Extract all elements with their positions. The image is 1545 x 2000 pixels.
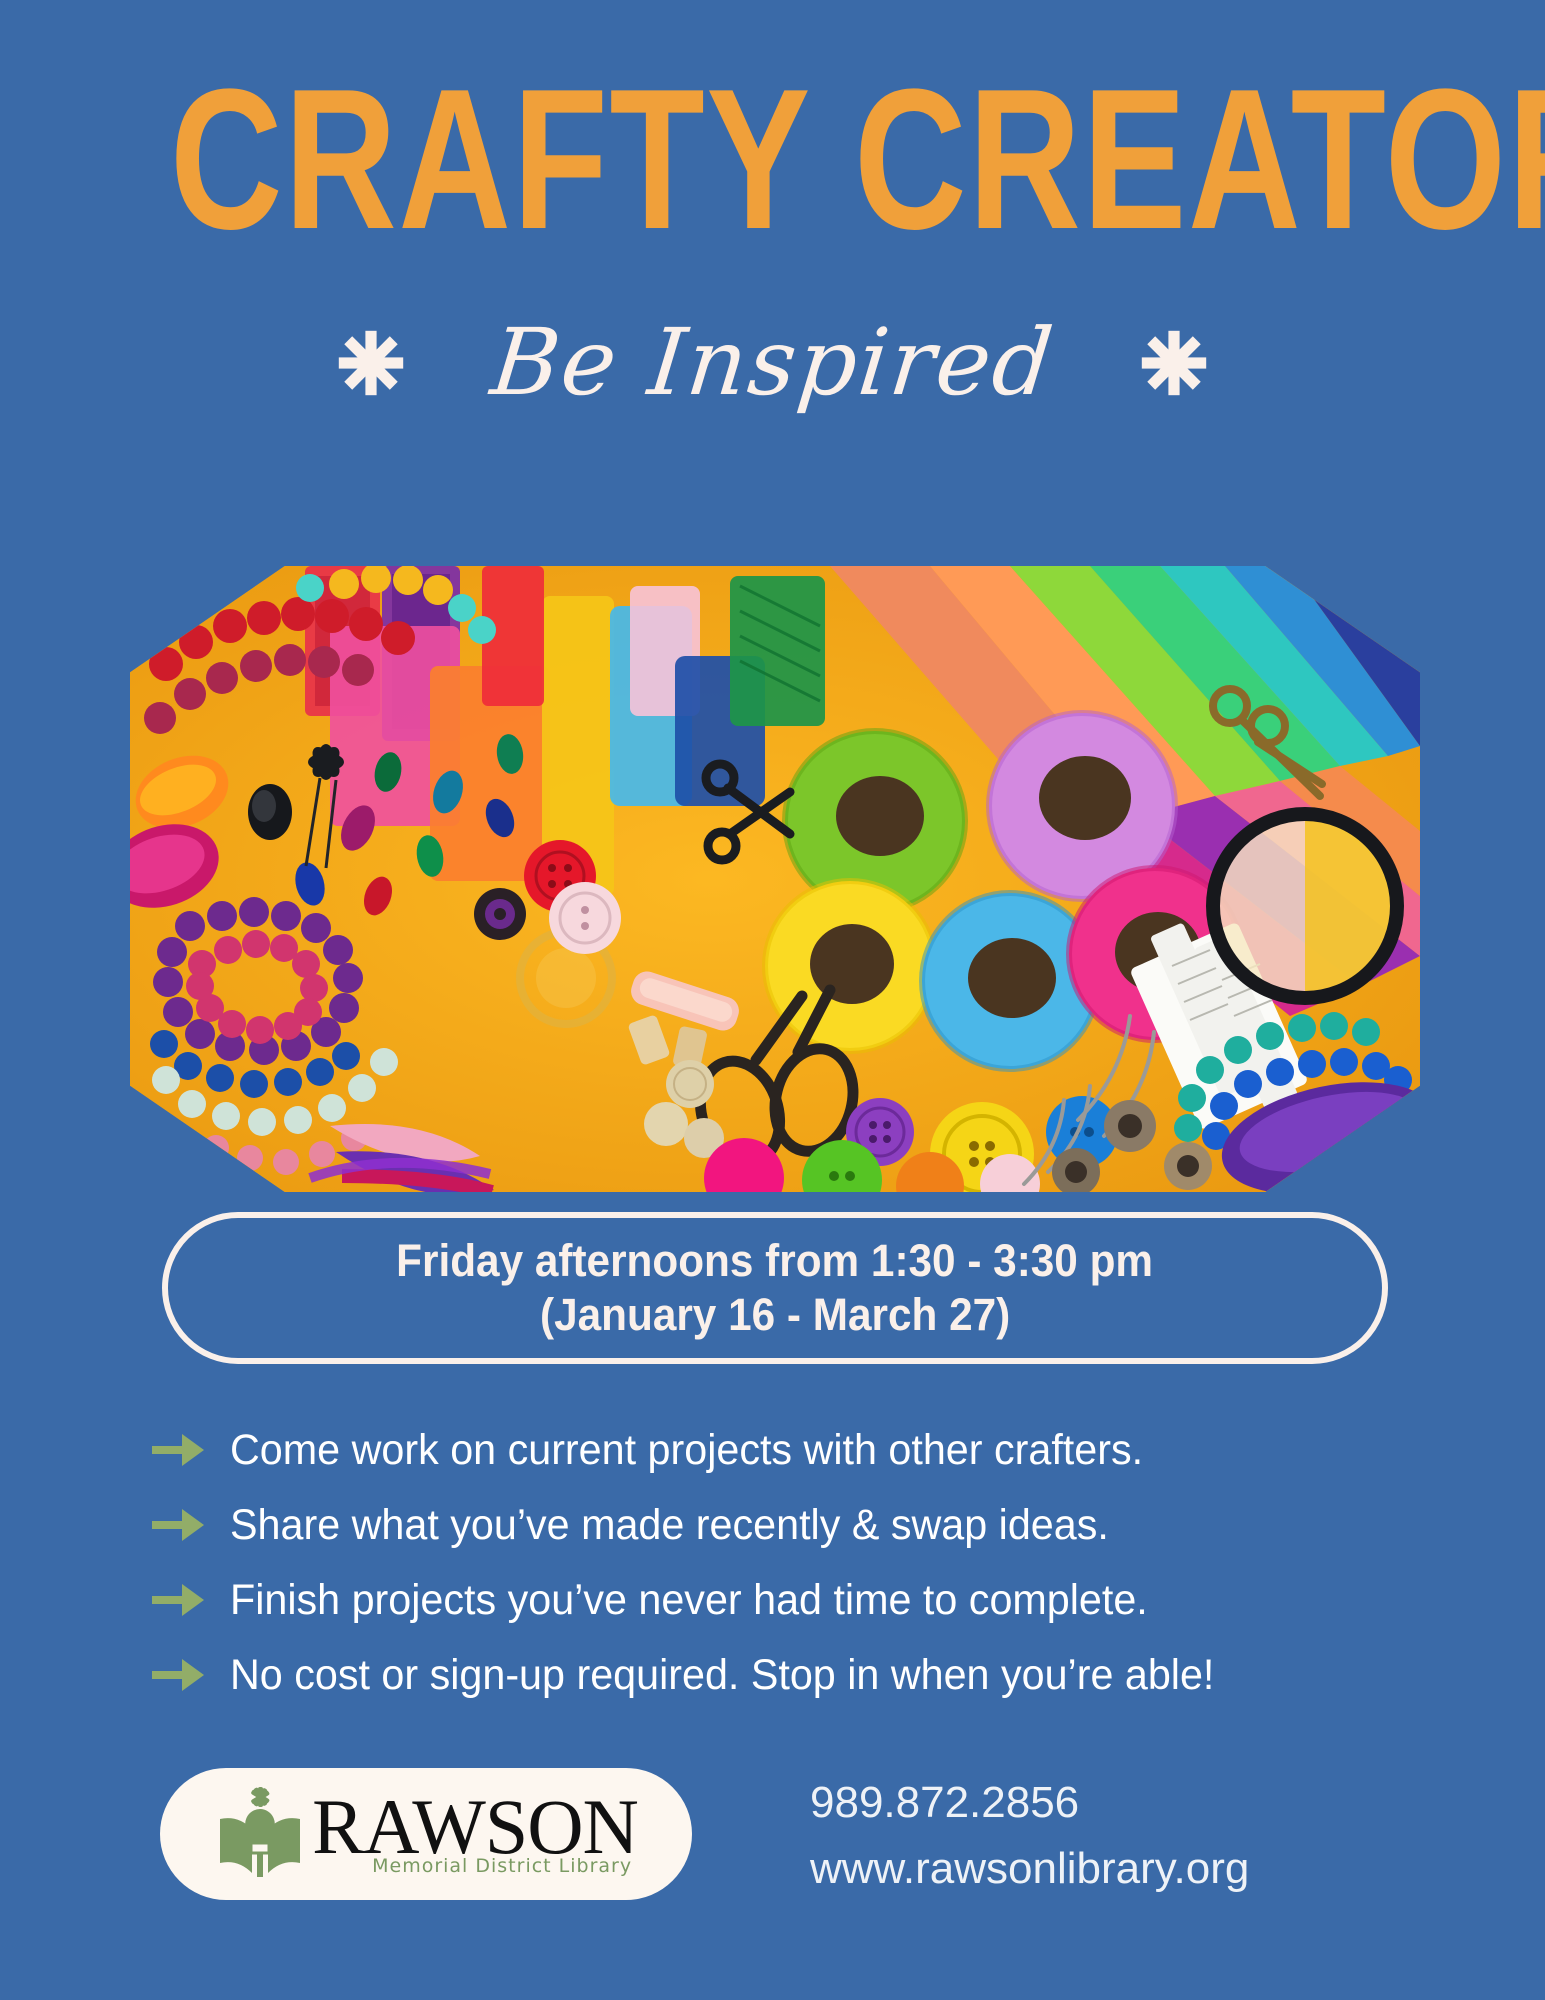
logo-name: RAWSON [312,1791,638,1863]
schedule-banner: Friday afternoons from 1:30 - 3:30 pm (J… [162,1212,1388,1364]
craft-supplies-photo-art [130,566,1420,1192]
craft-supplies-photo [130,566,1420,1192]
arrow-right-icon [150,1578,206,1622]
list-item-label: Come work on current projects with other… [230,1426,1143,1474]
flyer-page: CRAFTY CREATORS Be Inspired [0,0,1545,2000]
schedule-dates: (January 16 - March 27) [540,1290,1010,1340]
lightbulb-book-icon [214,1785,306,1883]
list-item: No cost or sign-up required. Stop in whe… [150,1637,1450,1712]
website-url[interactable]: www.rawsonlibrary.org [810,1836,1249,1902]
benefits-list: Come work on current projects with other… [150,1412,1450,1712]
list-item: Finish projects you’ve never had time to… [150,1562,1450,1637]
logo-wordmark: RAWSON Memorial District Library [312,1791,638,1877]
asterisk-star-icon-right [1139,328,1209,398]
phone-number[interactable]: 989.872.2856 [810,1770,1249,1836]
list-item-label: Share what you’ve made recently & swap i… [230,1501,1109,1549]
list-item-label: Finish projects you’ve never had time to… [230,1576,1148,1624]
asterisk-star-icon-left [336,328,406,398]
list-item: Share what you’ve made recently & swap i… [150,1487,1450,1562]
subtitle-row: Be Inspired [0,288,1545,438]
arrow-right-icon [150,1503,206,1547]
logo-tagline: Memorial District Library [372,1855,632,1877]
subtitle: Be Inspired [487,317,1058,409]
schedule-time: Friday afternoons from 1:30 - 3:30 pm [397,1236,1154,1286]
page-title: CRAFTY CREATORS [170,60,1375,260]
list-item: Come work on current projects with other… [150,1412,1450,1487]
library-logo: RAWSON Memorial District Library [160,1768,692,1900]
arrow-right-icon [150,1653,206,1697]
list-item-label: No cost or sign-up required. Stop in whe… [230,1651,1214,1699]
arrow-right-icon [150,1428,206,1472]
contact-info: 989.872.2856 www.rawsonlibrary.org [810,1770,1249,1902]
